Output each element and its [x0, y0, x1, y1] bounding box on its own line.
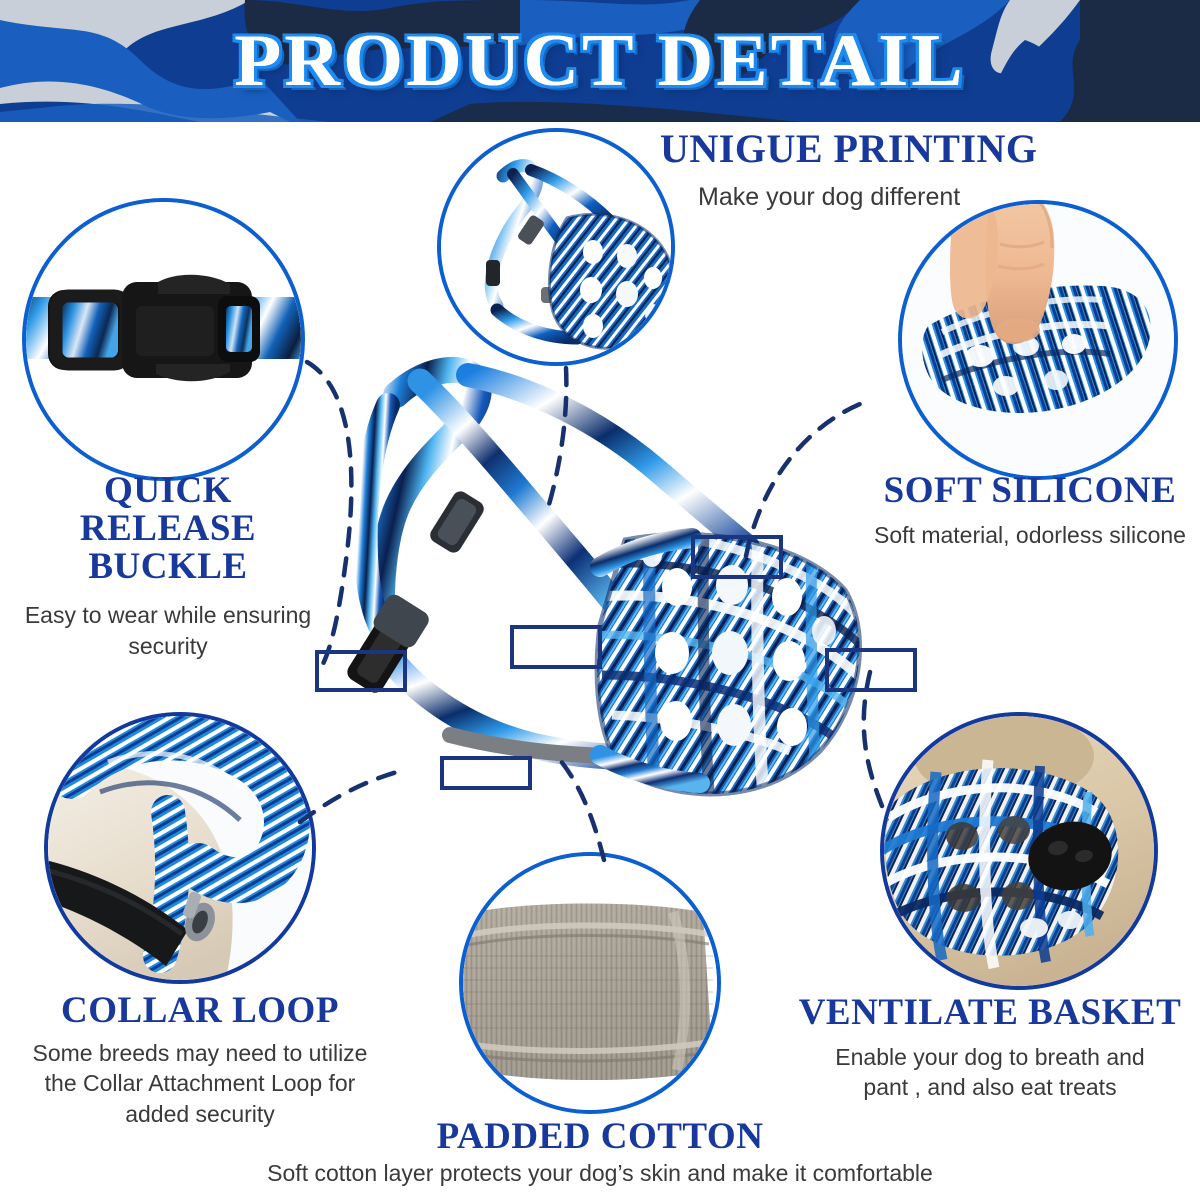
- dog-wearing-muzzle-photo: [884, 716, 1154, 986]
- feature-subtitle-collar-loop-line2: the Collar Attachment Loop for: [0, 1068, 400, 1098]
- feature-subtitle-ventilate-basket-line2: pant , and also eat treats: [780, 1072, 1200, 1102]
- photo-circle-soft-silicone: [898, 200, 1178, 480]
- buckle-photo: [26, 202, 301, 477]
- finger-press-photo: [902, 204, 1174, 476]
- full-muzzle-photo: [441, 132, 671, 362]
- page-title: PRODUCT DETAIL: [0, 0, 1200, 122]
- product-detail-infographic: PRODUCT DETAIL: [0, 0, 1200, 1196]
- center-product-photo: [300, 335, 880, 865]
- feature-title-unique-printing: UNIGUE PRINTING: [660, 128, 1080, 169]
- feature-text-padded-cotton: PADDED COTTON: [300, 1118, 900, 1156]
- feature-text-ventilate-basket: VENTILATE BASKET Enable your dog to brea…: [780, 994, 1200, 1103]
- feature-text-soft-silicone: SOFT SILICONE Soft material, odorless si…: [860, 472, 1200, 550]
- feature-text-unique-printing: UNIGUE PRINTING Make your dog different: [660, 128, 1080, 214]
- feature-subtitle-quick-release-buckle-line2: security: [0, 631, 336, 661]
- feature-subtitle-padded-cotton: Soft cotton layer protects your dog’s sk…: [140, 1158, 1060, 1188]
- photo-circle-ventilate-basket: [880, 712, 1158, 990]
- feature-title-ventilate-basket: VENTILATE BASKET: [780, 994, 1200, 1032]
- feature-subtitle-unique-printing: Make your dog different: [698, 181, 1080, 214]
- feature-text-collar-loop: COLLAR LOOP Some breeds may need to util…: [0, 992, 400, 1129]
- photo-circle-unique-printing: [437, 128, 675, 366]
- photo-circle-padded-cotton: [459, 852, 721, 1114]
- feature-text-quick-release-buckle: QUICK RELEASE BUCKLE Easy to wear while …: [0, 472, 336, 661]
- feature-title-quick-release-buckle-line2: RELEASE BUCKLE: [0, 510, 336, 586]
- feature-subtitle-ventilate-basket-line1: Enable your dog to breath and: [780, 1042, 1200, 1072]
- photo-circle-quick-release-buckle: [22, 198, 305, 481]
- feature-subtitle-soft-silicone: Soft material, odorless silicone: [860, 520, 1200, 550]
- feature-title-padded-cotton: PADDED COTTON: [300, 1118, 900, 1156]
- header-banner: PRODUCT DETAIL: [0, 0, 1200, 122]
- feature-subtitle-collar-loop-line1: Some breeds may need to utilize: [0, 1038, 400, 1068]
- cotton-padding-photo: [463, 856, 717, 1110]
- photo-circle-collar-loop: [44, 712, 316, 984]
- collar-loop-photo: [48, 716, 312, 980]
- feature-title-collar-loop: COLLAR LOOP: [0, 992, 400, 1030]
- feature-title-soft-silicone: SOFT SILICONE: [860, 472, 1200, 510]
- feature-title-quick-release-buckle-line1: QUICK: [0, 472, 336, 510]
- feature-subtitle-padded-cotton-wrap: Soft cotton layer protects your dog’s sk…: [140, 1158, 1060, 1188]
- feature-subtitle-quick-release-buckle-line1: Easy to wear while ensuring: [0, 600, 336, 630]
